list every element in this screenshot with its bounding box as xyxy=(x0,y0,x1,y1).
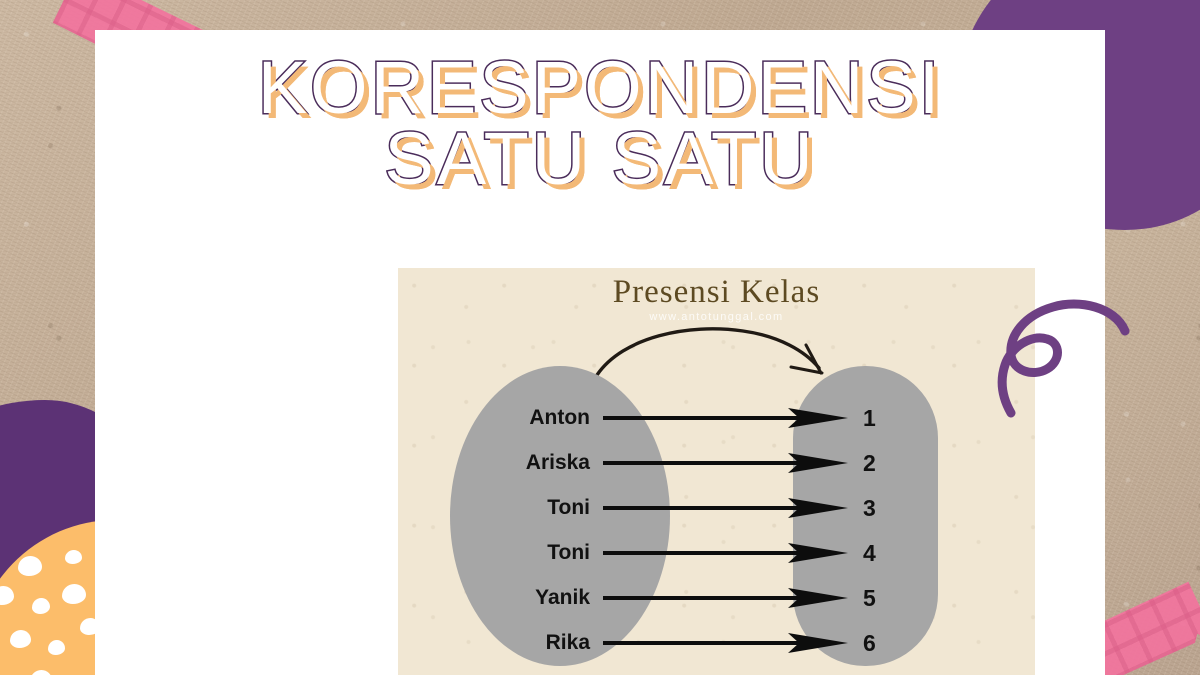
white-slide-card: KORESPONDENSI SATU SATU Presensi Kelas w… xyxy=(95,30,1105,675)
mapping-row: Toni 3 xyxy=(398,486,1035,530)
page-title: KORESPONDENSI SATU SATU xyxy=(95,52,1105,194)
mapping-row: Rika 6 xyxy=(398,621,1035,665)
codomain-label: 1 xyxy=(863,405,876,432)
mapping-arrow-icon xyxy=(603,542,848,564)
codomain-label: 2 xyxy=(863,450,876,477)
mapping-row: Anton 1 xyxy=(398,396,1035,440)
domain-label: Toni xyxy=(547,496,590,520)
codomain-label: 5 xyxy=(863,585,876,612)
domain-label: Yanik xyxy=(535,586,590,610)
codomain-label: 4 xyxy=(863,540,876,567)
purple-loop-doodle-icon xyxy=(975,295,1130,435)
codomain-label: 6 xyxy=(863,630,876,657)
mapping-arrow-icon xyxy=(603,407,848,429)
mapping-arrow-icon xyxy=(603,497,848,519)
codomain-label: 3 xyxy=(863,495,876,522)
title-line-2: SATU SATU xyxy=(95,123,1105,194)
mapping-arrow-icon xyxy=(603,632,848,654)
mapping-row: Toni 4 xyxy=(398,531,1035,575)
mapping-rows: Anton 1 Ariska 2 Toni xyxy=(398,268,1035,675)
domain-label: Rika xyxy=(546,631,590,655)
domain-label: Anton xyxy=(529,406,590,430)
mapping-row: Ariska 2 xyxy=(398,441,1035,485)
domain-label: Ariska xyxy=(526,451,590,475)
domain-label: Toni xyxy=(547,541,590,565)
mapping-arrow-icon xyxy=(603,452,848,474)
mapping-row: Yanik 5 xyxy=(398,576,1035,620)
mapping-arrow-icon xyxy=(603,587,848,609)
diagram-panel: Presensi Kelas www.antotunggal.com Anton… xyxy=(398,268,1035,675)
